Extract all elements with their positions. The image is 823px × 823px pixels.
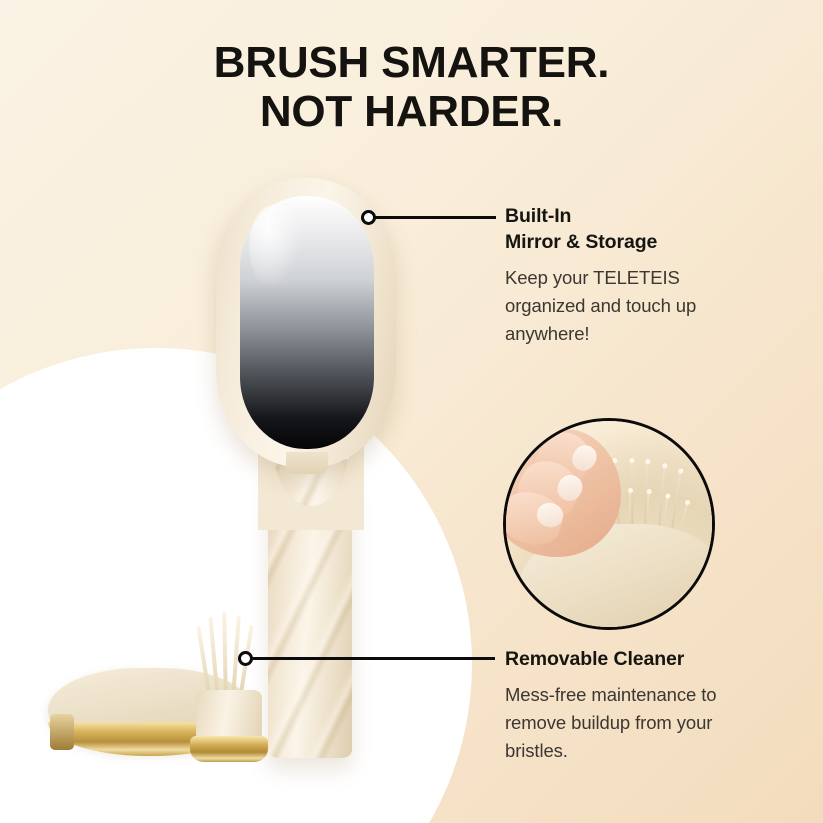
callout-dot-mirror xyxy=(361,210,376,225)
feature-mirror-title: Built-In Mirror & Storage xyxy=(505,203,755,255)
feature-cleaner-title: Removable Cleaner xyxy=(505,646,763,672)
photo-hand xyxy=(503,429,621,557)
feature-cleaner-body: Mess-free maintenance to remove buildup … xyxy=(505,681,763,765)
storage-case-hinge xyxy=(50,714,74,750)
callout-line-mirror xyxy=(368,216,496,219)
callout-line-cleaner xyxy=(247,657,495,660)
built-in-mirror xyxy=(240,196,374,449)
feature-block-mirror: Built-In Mirror & Storage Keep your TELE… xyxy=(505,203,755,349)
feature-block-cleaner: Removable Cleaner Mess-free maintenance … xyxy=(505,646,763,765)
infographic-canvas: BRUSH SMARTER. NOT HARDER. xyxy=(0,0,823,823)
feature-mirror-body: Keep your TELETEIS organized and touch u… xyxy=(505,264,755,348)
cleaner-demo-photo xyxy=(503,418,715,630)
cleaner-gold-base xyxy=(190,736,268,762)
storage-latch xyxy=(286,452,328,474)
callout-dot-cleaner xyxy=(238,651,253,666)
